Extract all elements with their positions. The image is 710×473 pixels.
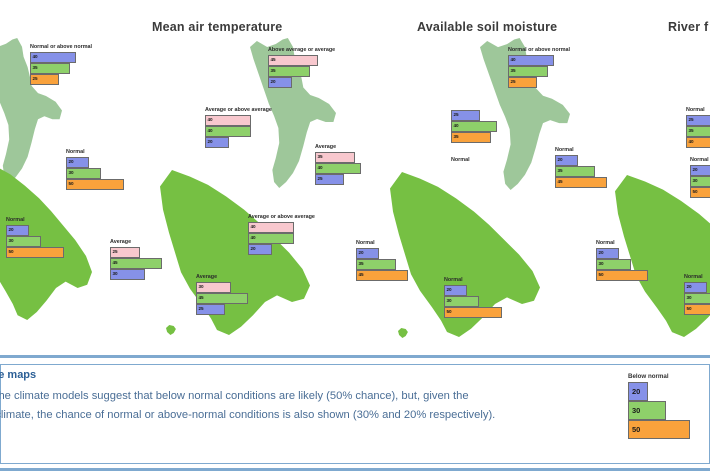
bar-value: 30 xyxy=(685,296,692,301)
bar-value: 30 xyxy=(445,299,452,304)
bar-below-normal: 25 xyxy=(508,77,537,88)
bargroup-rainfall-northern-north-island: Normal or above normal 40 35 25 xyxy=(30,52,80,85)
bar-below-normal: 50 xyxy=(690,187,710,198)
bargroup-soilmoisture-eastern-south-island: Normal 20 30 50 xyxy=(444,285,494,318)
bargroup-temperature-western-south-island: Average 25 45 30 xyxy=(110,247,160,280)
bargroup-soilmoisture-eastern-north-island: Normal 20 35 45 xyxy=(555,155,605,188)
bargroup-temperature-eastern-south-island: Average 30 45 25 xyxy=(196,282,246,315)
bar-value: 30 xyxy=(197,285,204,290)
bar-above-normal: 20 xyxy=(6,225,29,236)
legend-below-normal: Below normal 20 30 50 xyxy=(628,373,694,439)
bargroup-label-soilmoisture-western-north-island: Normal xyxy=(451,157,470,163)
bar-value: 50 xyxy=(691,190,698,195)
bar-value: 30 xyxy=(597,262,604,267)
bar-average: 40 xyxy=(315,163,361,174)
bar-normal: 30 xyxy=(444,296,479,307)
bar-value: 30 xyxy=(111,272,118,277)
bar-above-normal: 20 xyxy=(596,248,619,259)
bar-below-average: 20 xyxy=(205,137,229,148)
bar-average: 35 xyxy=(268,66,310,77)
legend-bar-above-normal: 20 xyxy=(628,382,648,401)
explanation-line-2: e climate, the chance of normal or above… xyxy=(0,408,495,423)
bar-value: 45 xyxy=(269,58,276,63)
explanation-line-1: e the climate models suggest that below … xyxy=(0,389,469,404)
bar-value: 25 xyxy=(509,80,516,85)
bar-above-normal: 20 xyxy=(66,157,89,168)
bargroup-rainfall-central-north-island: Normal 20 30 50 xyxy=(66,157,116,190)
bargroup-label: Normal xyxy=(356,241,375,247)
bar-above-average: 45 xyxy=(268,55,318,66)
bar-value: 20 xyxy=(691,168,698,173)
bar-below-average: 20 xyxy=(268,77,292,88)
bar-below-normal: 35 xyxy=(451,132,491,143)
bargroup-label: Normal xyxy=(690,158,709,164)
bar-below-average: 30 xyxy=(110,269,145,280)
bar-above-average: 35 xyxy=(315,152,355,163)
bar-value: 45 xyxy=(111,261,118,266)
bar-value: 40 xyxy=(316,166,323,171)
bar-normal: 35 xyxy=(356,259,396,270)
bar-above-normal: 40 xyxy=(30,52,76,63)
bargroup-label: Normal xyxy=(6,218,25,224)
bar-value: 40 xyxy=(206,129,213,134)
bargroup-label: Average or above average xyxy=(248,215,315,221)
bar-normal: 30 xyxy=(684,293,710,304)
bar-value: 35 xyxy=(509,69,516,74)
bar-normal: 30 xyxy=(6,236,41,247)
bargroup-label: Average xyxy=(196,275,217,281)
bar-below-normal: 45 xyxy=(555,177,607,188)
bar-value: 20 xyxy=(357,251,364,256)
bar-normal: 40 xyxy=(451,121,497,132)
bargroup-temperature-northern-north-island: Above average or average 45 35 20 xyxy=(268,55,318,88)
bar-value: 25 xyxy=(111,250,118,255)
bar-value: 50 xyxy=(685,307,692,312)
bottom-divider-rule xyxy=(0,468,710,471)
bar-value: 20 xyxy=(445,288,452,293)
bar-value: 30 xyxy=(691,179,698,184)
bar-below-normal: 50 xyxy=(66,179,124,190)
bargroup-label: Average or above average xyxy=(205,108,272,114)
bar-above-normal: 20 xyxy=(684,282,707,293)
bar-above-normal: 20 xyxy=(690,165,710,176)
bar-average: 45 xyxy=(196,293,248,304)
bargroup-temperature-northern-south-island: Average or above average 40 40 20 xyxy=(248,222,298,255)
legend-bar-value: 30 xyxy=(629,407,640,415)
bargroup-label: Normal xyxy=(596,241,615,247)
bar-value: 25 xyxy=(316,177,323,182)
bar-value: 20 xyxy=(269,80,276,85)
bar-above-average: 25 xyxy=(110,247,140,258)
bar-average: 45 xyxy=(110,258,162,269)
bargroup-riverflows-western-south-island: Normal 20 30 50 xyxy=(596,248,646,281)
bar-value: 40 xyxy=(31,55,38,60)
bar-below-average: 25 xyxy=(315,174,344,185)
bargroup-label: Normal xyxy=(444,278,463,284)
bar-below-normal: 45 xyxy=(356,270,408,281)
bar-below-average: 25 xyxy=(196,304,225,315)
bar-average: 40 xyxy=(248,233,294,244)
bar-below-normal: 50 xyxy=(684,304,710,315)
bargroup-label: Above average or average xyxy=(268,48,335,54)
legend-bar-value: 20 xyxy=(629,388,640,396)
bar-value: 40 xyxy=(452,124,459,129)
bargroup-label: Average xyxy=(315,145,336,151)
bar-above-average: 40 xyxy=(248,222,294,233)
bar-value: 50 xyxy=(67,182,74,187)
bar-normal: 35 xyxy=(508,66,548,77)
bargroup-label: Normal or above normal xyxy=(30,45,92,51)
bar-value: 35 xyxy=(269,69,276,74)
bar-above-normal: 25 xyxy=(451,110,480,121)
bar-normal: 35 xyxy=(30,63,70,74)
bar-normal: 30 xyxy=(690,176,710,187)
bar-value: 45 xyxy=(357,273,364,278)
bargroup-label: Normal xyxy=(66,150,85,156)
bar-value: 45 xyxy=(197,296,204,301)
bargroup-rainfall-eastern-north-island: Normal 20 30 50 xyxy=(6,225,56,258)
bar-value: 50 xyxy=(597,273,604,278)
bar-value: 20 xyxy=(685,285,692,290)
bar-value: 30 xyxy=(7,239,14,244)
bar-above-normal: 20 xyxy=(444,285,467,296)
bar-normal: 35 xyxy=(686,126,710,137)
bargroup-riverflows-eastern-south-island: Normal 20 30 50 xyxy=(684,282,710,315)
bar-value: 45 xyxy=(556,180,563,185)
top-divider-rule xyxy=(0,355,710,358)
bar-value: 20 xyxy=(249,247,256,252)
explanation-band: ese maps e the climate models suggest th… xyxy=(0,355,710,473)
bar-value: 35 xyxy=(452,135,459,140)
bar-value: 35 xyxy=(357,262,364,267)
bar-value: 40 xyxy=(249,236,256,241)
bargroup-label: Average xyxy=(110,240,131,246)
bargroup-temperature-eastern-north-island: Average 35 40 25 xyxy=(315,152,365,185)
bar-value: 25 xyxy=(687,118,694,123)
stewart-island-shape xyxy=(166,325,177,335)
legend-label: Below normal xyxy=(628,373,694,380)
bar-below-normal: 50 xyxy=(444,307,502,318)
bar-value: 20 xyxy=(597,251,604,256)
bar-above-average: 40 xyxy=(205,115,251,126)
bar-above-normal: 20 xyxy=(555,155,578,166)
bar-normal: 30 xyxy=(66,168,101,179)
legend-bar-normal: 30 xyxy=(628,401,666,420)
legend-bar-below-normal: 50 xyxy=(628,420,690,439)
legend-bar-value: 50 xyxy=(629,426,640,434)
bar-below-normal: 50 xyxy=(6,247,64,258)
bar-value: 50 xyxy=(7,250,14,255)
bar-above-normal: 20 xyxy=(356,248,379,259)
stewart-island-shape xyxy=(398,328,409,338)
bar-normal: 30 xyxy=(596,259,631,270)
bar-below-normal: 25 xyxy=(30,74,59,85)
bar-value: 25 xyxy=(197,307,204,312)
bar-value: 40 xyxy=(206,118,213,123)
climate-outlook-figure: Normal or above normal 40 35 25 Normal 2… xyxy=(0,0,710,473)
bargroup-label: Normal xyxy=(555,148,574,154)
bar-value: 50 xyxy=(445,310,452,315)
bar-below-average: 20 xyxy=(248,244,272,255)
bar-above-average: 30 xyxy=(196,282,231,293)
bargroup-label: Normal or above normal xyxy=(508,48,570,54)
bar-normal: 35 xyxy=(555,166,595,177)
bar-value: 20 xyxy=(7,228,14,233)
bar-value: 35 xyxy=(687,129,694,134)
bar-value: 35 xyxy=(316,155,323,160)
bargroup-soilmoisture-western-south-island: Normal 20 35 45 xyxy=(356,248,406,281)
bargroup-riverflows-central-north-island: Normal 20 30 50 xyxy=(690,165,710,198)
bargroup-soilmoisture-western-north-island: 25 40 35 xyxy=(451,110,501,143)
bargroup-label: Normal xyxy=(684,275,703,281)
bar-value: 40 xyxy=(509,58,516,63)
bar-value: 40 xyxy=(687,140,694,145)
bar-above-normal: 40 xyxy=(508,55,554,66)
bar-value: 30 xyxy=(67,171,74,176)
bar-value: 20 xyxy=(206,140,213,145)
bar-value: 40 xyxy=(249,225,256,230)
bar-below-normal: 40 xyxy=(686,137,710,148)
bargroup-soilmoisture-northern-north-island: Normal or above normal 40 35 25 xyxy=(508,55,558,88)
bargroup-temperature-western-north-island: Average or above average 40 40 20 xyxy=(205,115,255,148)
bar-value: 20 xyxy=(67,160,74,165)
bar-below-normal: 50 xyxy=(596,270,648,281)
explanation-heading: ese maps xyxy=(0,369,36,381)
bargroup-label: Normal xyxy=(686,108,705,114)
bar-value: 25 xyxy=(31,77,38,82)
bar-value: 35 xyxy=(556,169,563,174)
bargroup-riverflows-northern-north-island: Normal 25 35 40 xyxy=(686,115,710,148)
bar-value: 20 xyxy=(556,158,563,163)
bar-average: 40 xyxy=(205,126,251,137)
bar-value: 35 xyxy=(31,66,38,71)
bar-above-normal: 25 xyxy=(686,115,710,126)
bar-value: 25 xyxy=(452,113,459,118)
